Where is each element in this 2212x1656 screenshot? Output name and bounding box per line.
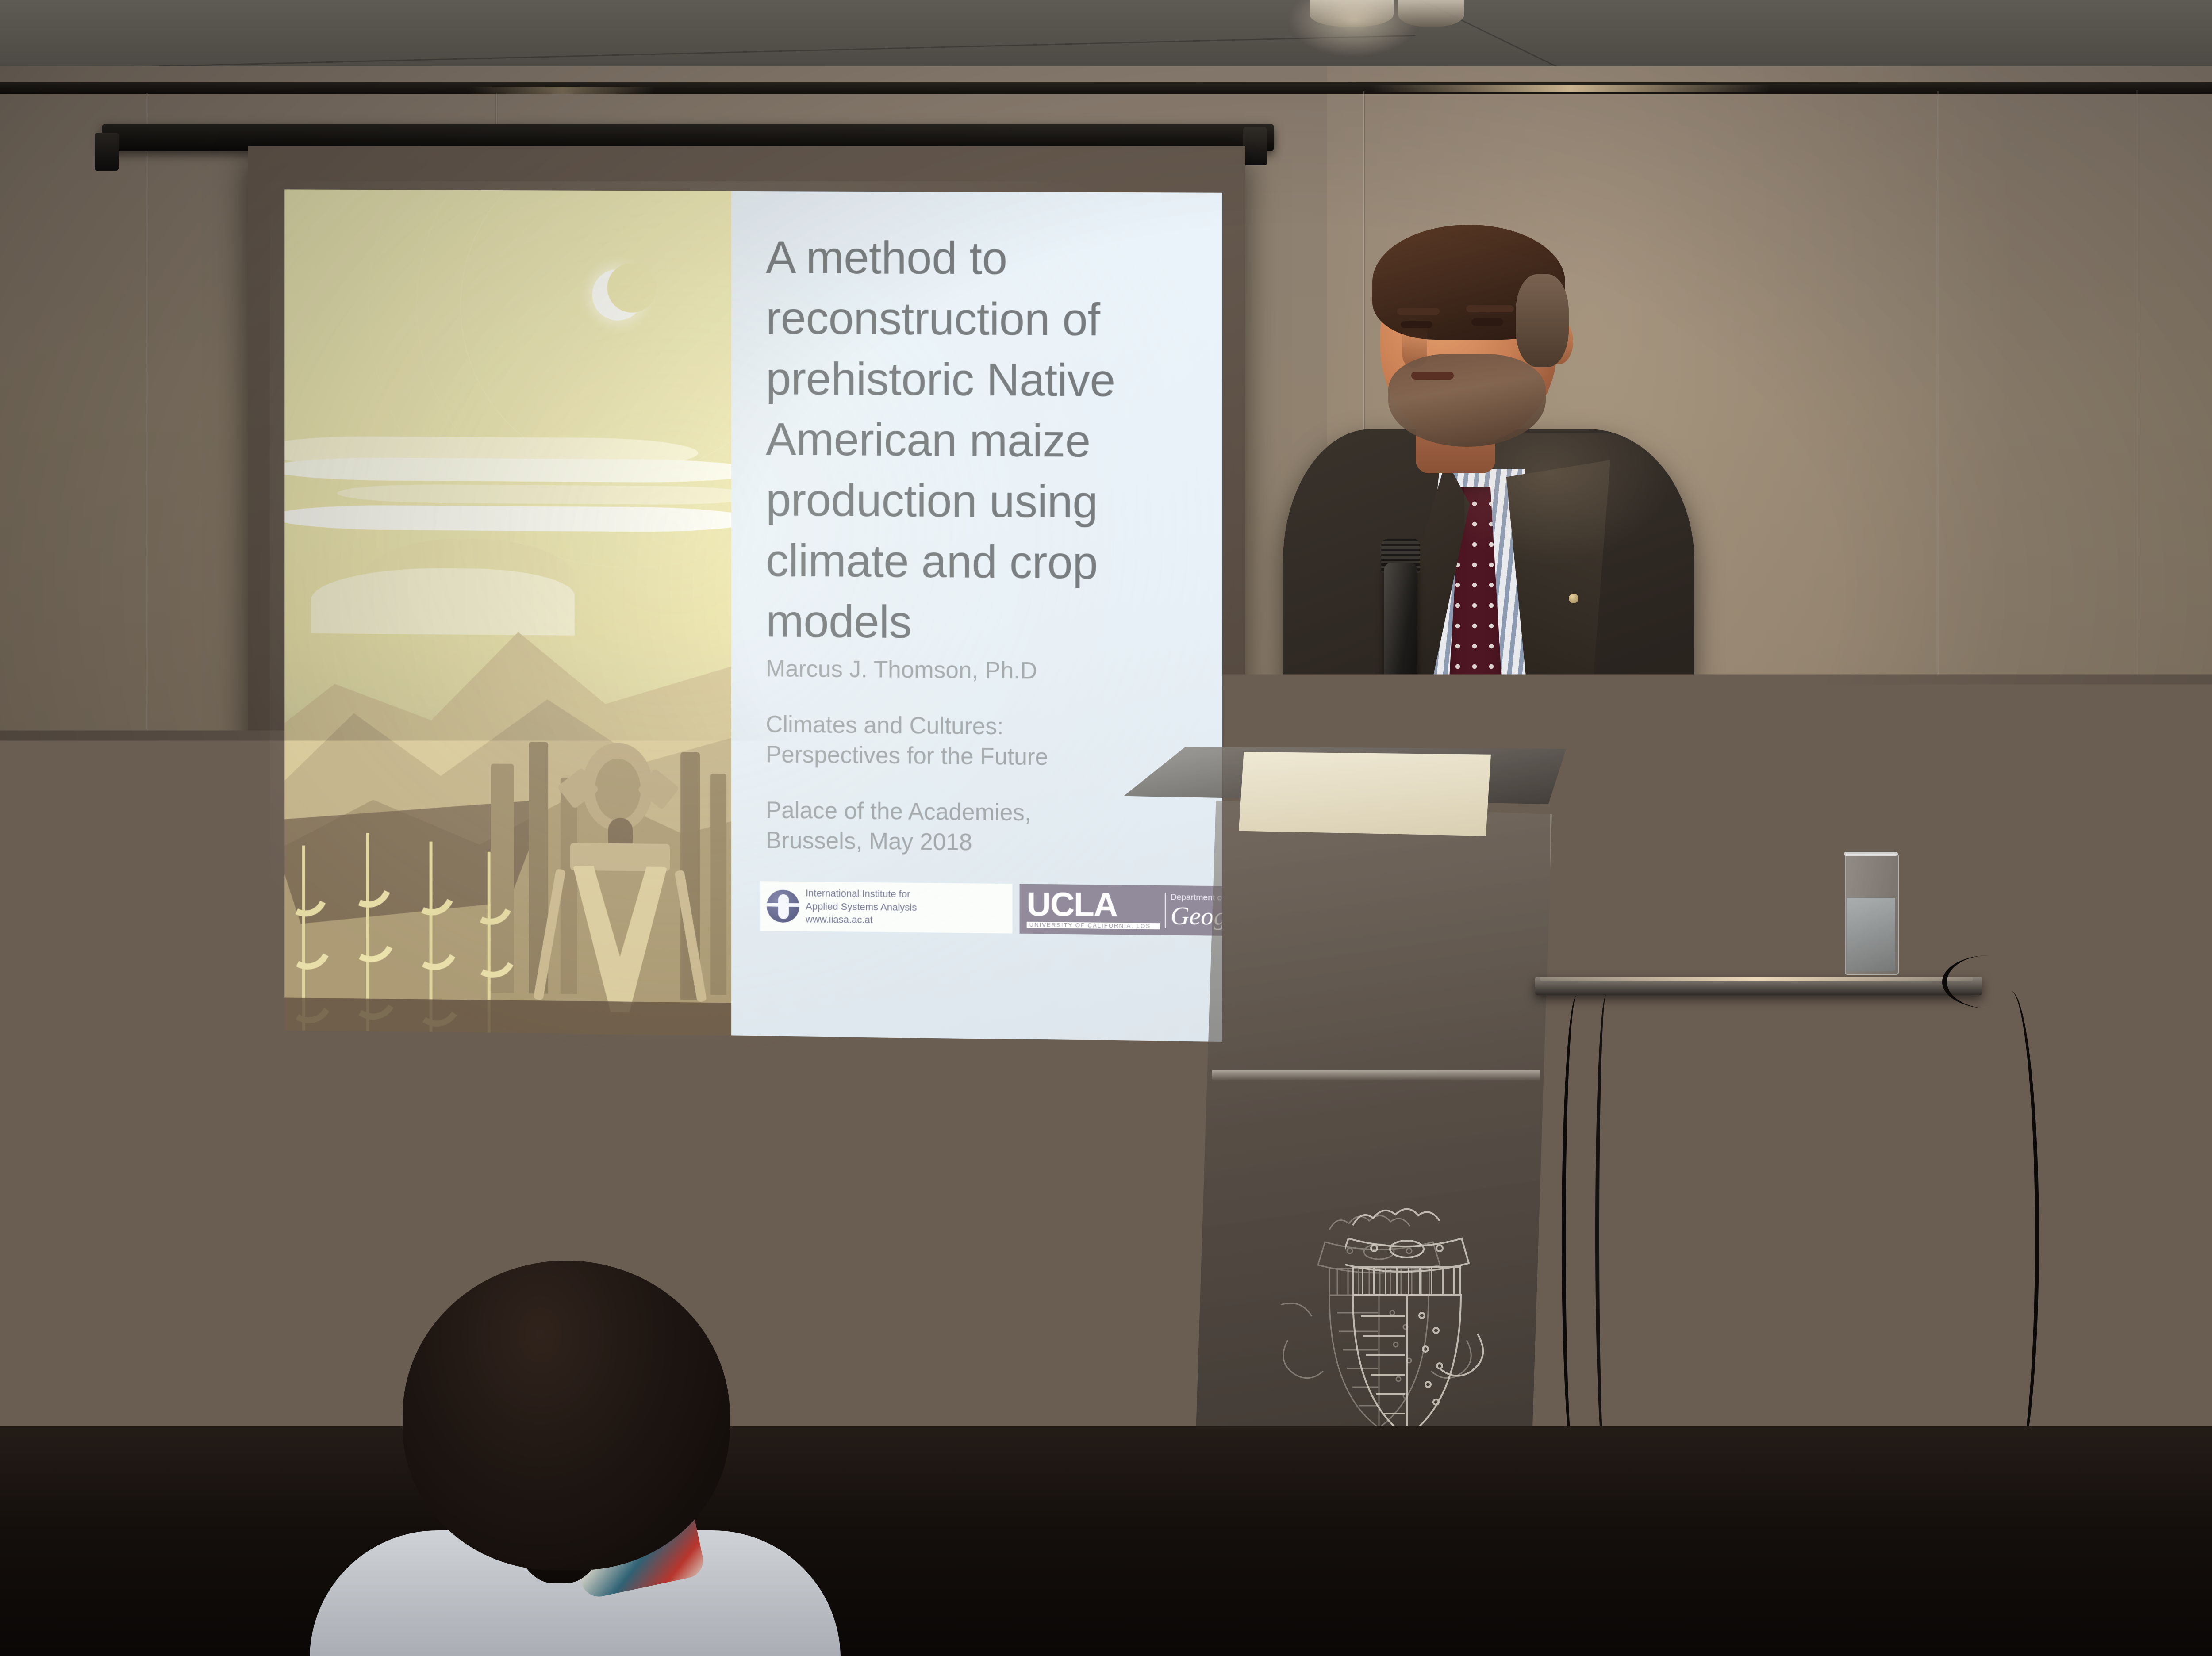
ceiling-light-fixture	[1398, 0, 1464, 27]
scene-vignette	[0, 66, 2212, 1437]
presentation-photo-scene: A method to reconstruction of prehistori…	[0, 0, 2212, 1656]
